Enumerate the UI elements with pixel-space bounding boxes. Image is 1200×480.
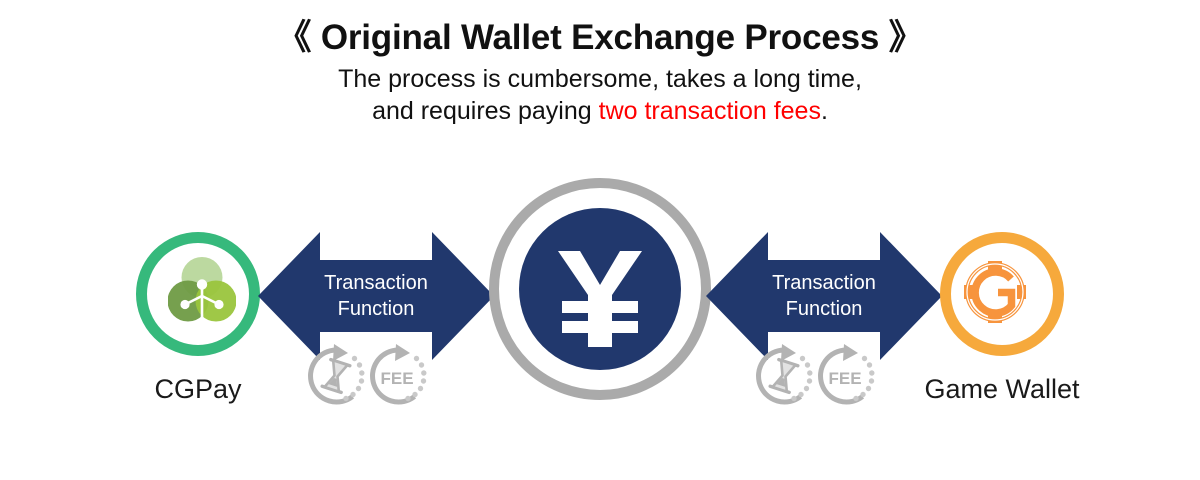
fee-badge-right-text: FEE	[828, 369, 861, 388]
yen-symbol-icon	[519, 208, 681, 370]
hourglass-refresh-icon	[752, 344, 816, 408]
cgpay-label: CGPay	[98, 374, 298, 405]
fee-badge-left-text: FEE	[380, 369, 413, 388]
subtitle-highlight: two transaction fees	[599, 97, 821, 125]
subtitle-line-2: and requires paying two transaction fees…	[0, 96, 1200, 127]
header-block: 《 Original Wallet Exchange Process 》 The…	[0, 18, 1200, 127]
fee-badges-right: FEE	[752, 344, 884, 410]
subtitle-suffix: .	[821, 97, 828, 125]
fee-badges-left: FEE	[304, 344, 436, 410]
fee-refresh-icon: FEE	[814, 344, 878, 408]
subtitle-prefix: and requires paying	[372, 97, 599, 125]
page-title: 《 Original Wallet Exchange Process 》	[0, 18, 1200, 58]
cgpay-trefoil-icon	[168, 256, 236, 324]
page-subtitle: The process is cumbersome, takes a long …	[0, 64, 1200, 127]
game-coin-g-icon	[960, 257, 1030, 327]
subtitle-line-1: The process is cumbersome, takes a long …	[0, 64, 1200, 95]
hourglass-refresh-icon	[304, 344, 368, 408]
game-wallet-label: Game Wallet	[902, 374, 1102, 405]
diagram-canvas: 《 Original Wallet Exchange Process 》 The…	[0, 0, 1200, 480]
fee-refresh-icon: FEE	[366, 344, 430, 408]
